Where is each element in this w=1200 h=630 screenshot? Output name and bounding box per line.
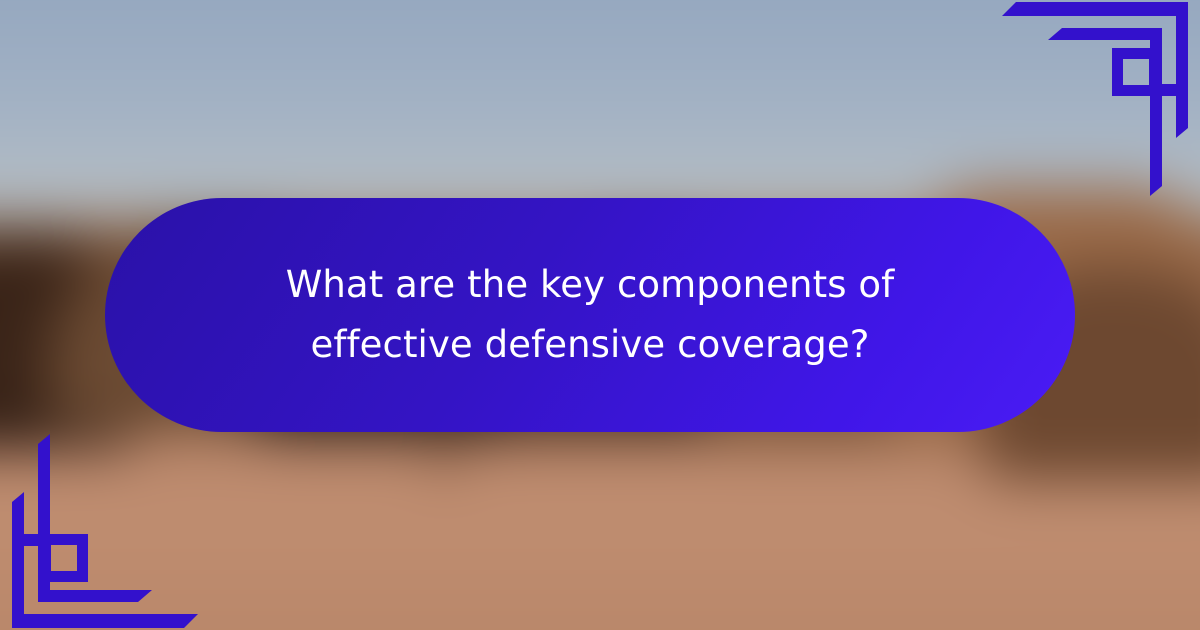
question-card: What are the key components of effective… [105,198,1075,432]
foreground-haze [0,554,1200,630]
question-text: What are the key components of effective… [230,255,950,375]
slide-canvas: What are the key components of effective… [0,0,1200,630]
